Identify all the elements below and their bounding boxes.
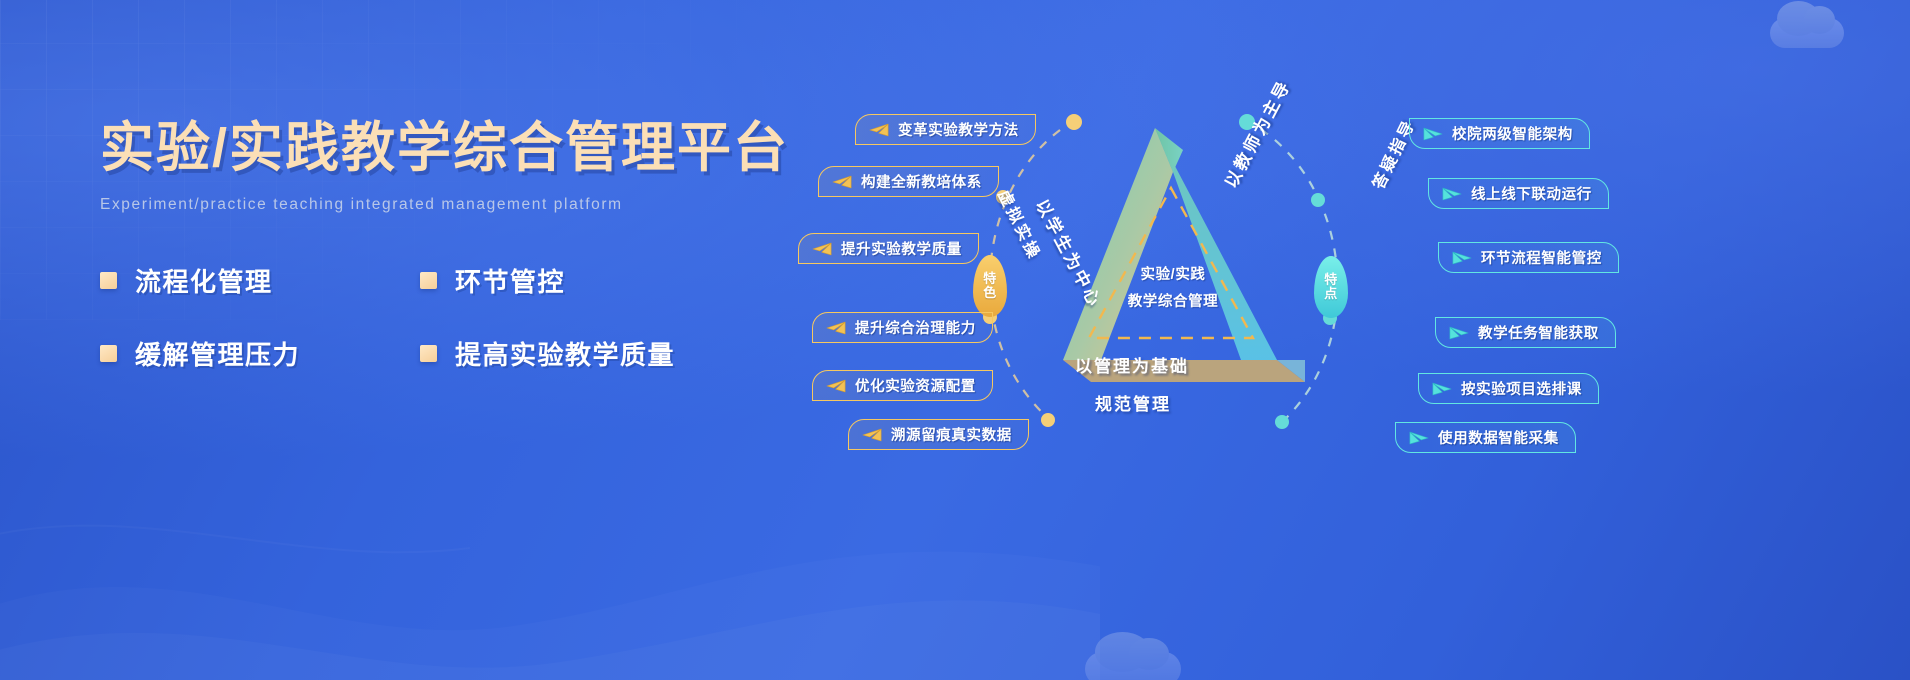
feature-item: 环节管控 (420, 262, 740, 299)
right-pill-2[interactable]: 线上线下联动运行 (1428, 178, 1609, 209)
left-pill-4[interactable]: 提升综合治理能力 (812, 312, 993, 343)
left-pill-1-label: 变革实验教学方法 (898, 119, 1019, 140)
paper-plane-icon (826, 321, 846, 335)
marker-feature-cyan-label: 特点 (1324, 273, 1338, 301)
left-pill-6[interactable]: 溯源留痕真实数据 (848, 419, 1029, 450)
right-pill-3[interactable]: 环节流程智能管控 (1438, 242, 1619, 273)
feature-label: 提高实验教学质量 (455, 335, 675, 372)
triangle-core-line2: 教学综合管理 (1093, 289, 1253, 316)
right-pill-6[interactable]: 使用数据智能采集 (1395, 422, 1576, 453)
paper-plane-icon (1449, 326, 1469, 340)
banner-root: 实验/实践教学综合管理平台 Experiment/practice teachi… (0, 0, 1910, 680)
feature-item: 缓解管理压力 (100, 335, 420, 372)
right-pill-6-label: 使用数据智能采集 (1438, 427, 1559, 448)
bullet-square-icon (420, 345, 437, 362)
right-pill-4[interactable]: 教学任务智能获取 (1435, 317, 1616, 348)
page-subtitle: Experiment/practice teaching integrated … (100, 196, 860, 214)
bullet-square-icon (100, 345, 117, 362)
paper-plane-icon (1423, 127, 1443, 141)
feature-label: 缓解管理压力 (135, 335, 300, 372)
paper-plane-icon (869, 123, 889, 137)
left-pill-5-label: 优化实验资源配置 (855, 375, 976, 396)
right-pill-5[interactable]: 按实验项目选排课 (1418, 373, 1599, 404)
outer-label-standard-mgmt: 规范管理 (1095, 390, 1171, 415)
feature-label: 环节管控 (455, 262, 565, 299)
cloud-icon (1085, 652, 1181, 680)
paper-plane-icon (1452, 251, 1472, 265)
right-pill-5-label: 按实验项目选排课 (1461, 378, 1582, 399)
bullet-square-icon (100, 272, 117, 289)
paper-plane-icon (862, 428, 882, 442)
marker-feature-cyan: 特点 (1314, 256, 1348, 318)
paper-plane-icon (1432, 382, 1452, 396)
left-pill-3[interactable]: 提升实验教学质量 (798, 233, 979, 264)
bullet-square-icon (420, 272, 437, 289)
paper-plane-icon (826, 379, 846, 393)
cloud-icon (1770, 18, 1844, 48)
right-pill-2-label: 线上线下联动运行 (1471, 183, 1592, 204)
page-title: 实验/实践教学综合管理平台 (100, 118, 860, 178)
left-pill-4-label: 提升综合治理能力 (855, 317, 976, 338)
feature-list: 流程化管理 环节管控 缓解管理压力 提高实验教学质量 (100, 262, 740, 372)
triangle-graphic: 以学生为中心 以教师为主导 以管理为基础 实验/实践 教学综合管理 (1005, 110, 1335, 420)
feature-label: 流程化管理 (135, 262, 273, 299)
hero-copy: 实验/实践教学综合管理平台 Experiment/practice teachi… (100, 118, 860, 372)
marker-feature-gold: 特色 (973, 255, 1007, 317)
triangle-side-bottom-label: 以管理为基础 (1075, 352, 1189, 377)
right-pill-1[interactable]: 校院两级智能架构 (1409, 118, 1590, 149)
right-pill-4-label: 教学任务智能获取 (1478, 322, 1599, 343)
feature-item: 流程化管理 (100, 262, 420, 299)
feature-item: 提高实验教学质量 (420, 335, 740, 372)
concept-diagram: 以学生为中心 以教师为主导 以管理为基础 实验/实践 教学综合管理 虚拟实操 答… (790, 90, 1900, 470)
left-pill-2[interactable]: 构建全新教培体系 (818, 166, 999, 197)
paper-plane-icon (1442, 187, 1462, 201)
paper-plane-icon (1409, 431, 1429, 445)
right-pill-3-label: 环节流程智能管控 (1481, 247, 1602, 268)
left-pill-6-label: 溯源留痕真实数据 (891, 424, 1012, 445)
left-pill-1[interactable]: 变革实验教学方法 (855, 114, 1036, 145)
triangle-core-line1: 实验/实践 (1093, 262, 1253, 289)
triangle-core-label: 实验/实践 教学综合管理 (1093, 262, 1253, 316)
left-pill-5[interactable]: 优化实验资源配置 (812, 370, 993, 401)
marker-feature-gold-label: 特色 (983, 272, 997, 300)
paper-plane-icon (812, 242, 832, 256)
left-pill-2-label: 构建全新教培体系 (861, 171, 982, 192)
paper-plane-icon (832, 175, 852, 189)
left-pill-3-label: 提升实验教学质量 (841, 238, 962, 259)
right-pill-1-label: 校院两级智能架构 (1452, 123, 1573, 144)
